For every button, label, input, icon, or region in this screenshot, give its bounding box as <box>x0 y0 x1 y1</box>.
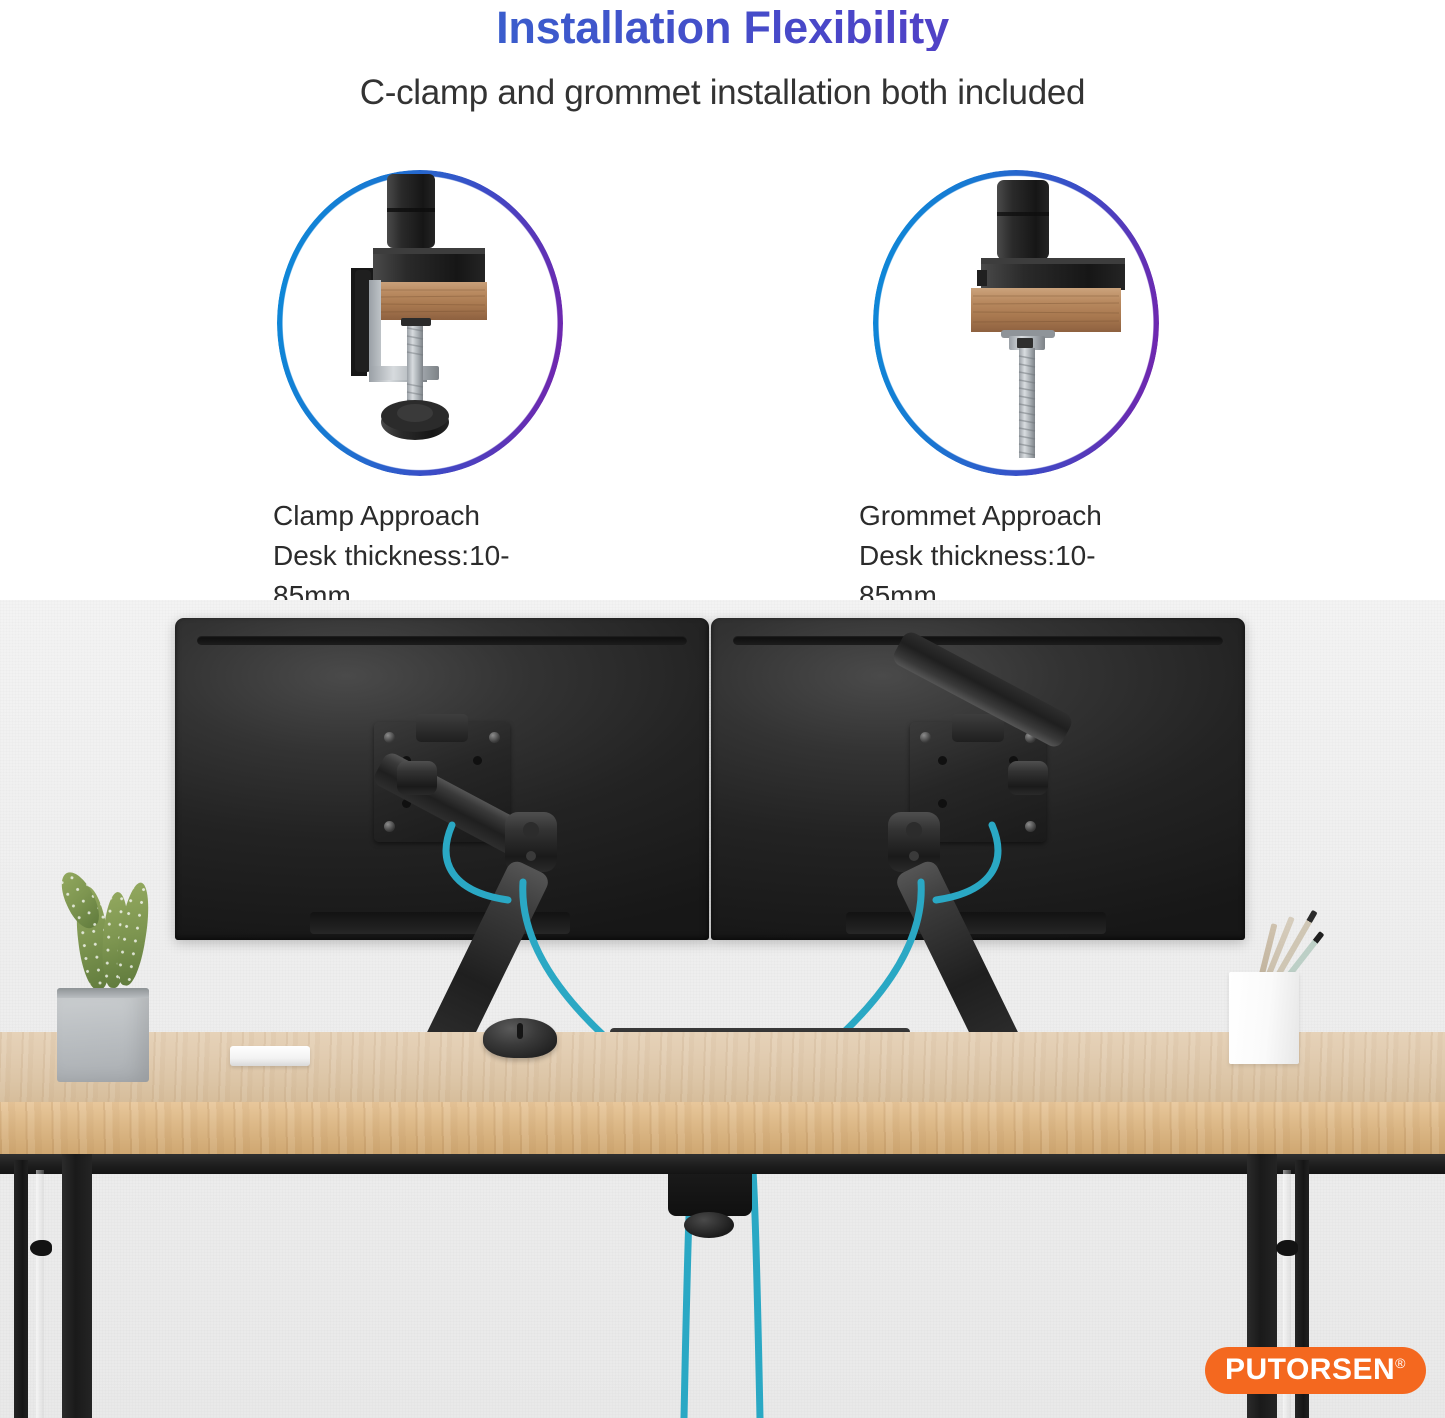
heading-block: Installation Flexibility C-clamp and gro… <box>0 0 1445 113</box>
plant-pot-rim <box>57 988 149 998</box>
grommet-hardware-illustration <box>873 170 1159 476</box>
clamp-tighten-knob <box>684 1212 734 1238</box>
desk-leg-glide-left <box>36 1170 44 1418</box>
desk-leg-left <box>62 1154 92 1418</box>
grommet-approach-figure: Grommet Approach Desk thickness:10-85mm <box>873 170 1159 476</box>
page-title: Installation Flexibility <box>0 0 1445 51</box>
product-scene <box>0 600 1445 1418</box>
desk-leg-brace-left <box>14 1160 28 1418</box>
arm-right <box>888 629 1075 1066</box>
brand-trademark-symbol: ® <box>1395 1355 1406 1371</box>
clamp-approach-figure: Clamp Approach Desk thickness:10-85mm <box>277 170 563 476</box>
plant-pot <box>57 988 149 1082</box>
clamp-approach-caption: Clamp Approach Desk thickness:10-85mm <box>273 496 563 615</box>
desk-leg-knob-left <box>30 1240 52 1256</box>
pencil-cup <box>1229 972 1299 1064</box>
desk-leg-knob-right <box>1276 1240 1298 1256</box>
desk-frame-rail <box>0 1154 1445 1174</box>
computer-mouse <box>483 1018 557 1058</box>
grommet-approach-caption: Grommet Approach Desk thickness:10-85mm <box>859 496 1159 615</box>
notepad <box>230 1046 310 1066</box>
brand-logo-text: PUTORSEN <box>1225 1353 1395 1386</box>
desk-front-edge <box>0 1102 1445 1154</box>
brand-logo: PUTORSEN® <box>1205 1347 1426 1394</box>
page-subtitle: C-clamp and grommet installation both in… <box>0 73 1445 113</box>
clamp-hardware-illustration <box>277 170 563 476</box>
